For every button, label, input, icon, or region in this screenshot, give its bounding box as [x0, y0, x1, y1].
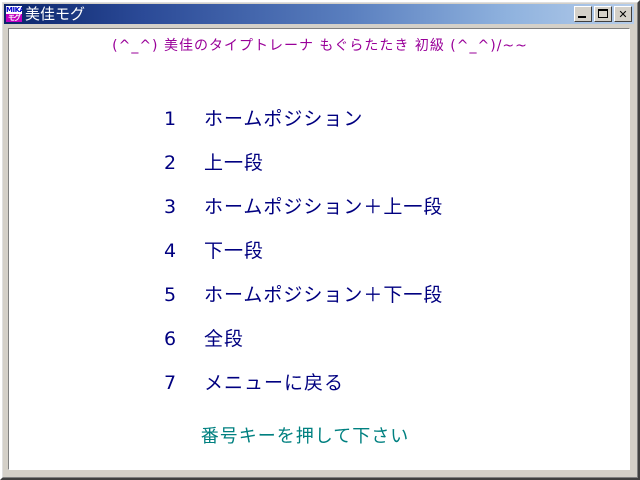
client-area: (^_^) 美佳のタイプトレーナ もぐらたたき 初級 (^_^)/~~ 1 ホー… — [8, 28, 630, 470]
app-icon-top-text: MIKA — [6, 6, 22, 14]
minimize-button[interactable] — [574, 6, 592, 22]
mikatype-app-icon: MIKA モグ — [6, 6, 22, 22]
minimize-icon — [578, 16, 586, 18]
screen-header: (^_^) 美佳のタイプトレーナ もぐらたたき 初級 (^_^)/~~ — [9, 37, 630, 55]
menu-item-3[interactable]: 3 ホームポジション＋上一段 — [9, 185, 630, 229]
title-bar[interactable]: MIKA モグ 美佳モグ ✕ — [4, 4, 634, 24]
menu-item-number: 5 — [164, 283, 204, 307]
menu-item-number: 3 — [164, 195, 204, 219]
menu-item-number: 4 — [164, 239, 204, 263]
menu-item-5[interactable]: 5 ホームポジション＋下一段 — [9, 273, 630, 317]
window-title: 美佳モグ — [25, 5, 574, 23]
menu-item-number: 6 — [164, 327, 204, 351]
level-menu-list: 1 ホームポジション 2 上一段 3 ホームポジション＋上一段 4 下一段 5 … — [9, 97, 630, 405]
window-controls: ✕ — [574, 6, 632, 22]
menu-item-label: ホームポジション＋上一段 — [204, 195, 630, 219]
menu-item-label: 上一段 — [204, 151, 630, 175]
close-icon: ✕ — [615, 7, 631, 21]
maximize-button[interactable] — [594, 6, 612, 22]
menu-item-2[interactable]: 2 上一段 — [9, 141, 630, 185]
menu-item-label: ホームポジション＋下一段 — [204, 283, 630, 307]
menu-item-label: ホームポジション — [204, 107, 630, 131]
menu-item-7[interactable]: 7 メニューに戻る — [9, 361, 630, 405]
menu-item-label: 全段 — [204, 327, 630, 351]
app-icon-bottom-text: モグ — [6, 14, 22, 22]
menu-item-label: 下一段 — [204, 239, 630, 263]
menu-item-number: 7 — [164, 371, 204, 395]
application-window: MIKA モグ 美佳モグ ✕ (^_^) 美佳のタイプトレーナ もぐらたたき 初… — [0, 0, 640, 480]
menu-item-6[interactable]: 6 全段 — [9, 317, 630, 361]
menu-item-1[interactable]: 1 ホームポジション — [9, 97, 630, 141]
menu-item-4[interactable]: 4 下一段 — [9, 229, 630, 273]
menu-item-label: メニューに戻る — [204, 371, 630, 395]
menu-item-number: 2 — [164, 151, 204, 175]
maximize-icon — [598, 9, 608, 18]
close-button[interactable]: ✕ — [614, 6, 632, 22]
key-prompt: 番号キーを押して下さい — [9, 425, 630, 449]
menu-item-number: 1 — [164, 107, 204, 131]
